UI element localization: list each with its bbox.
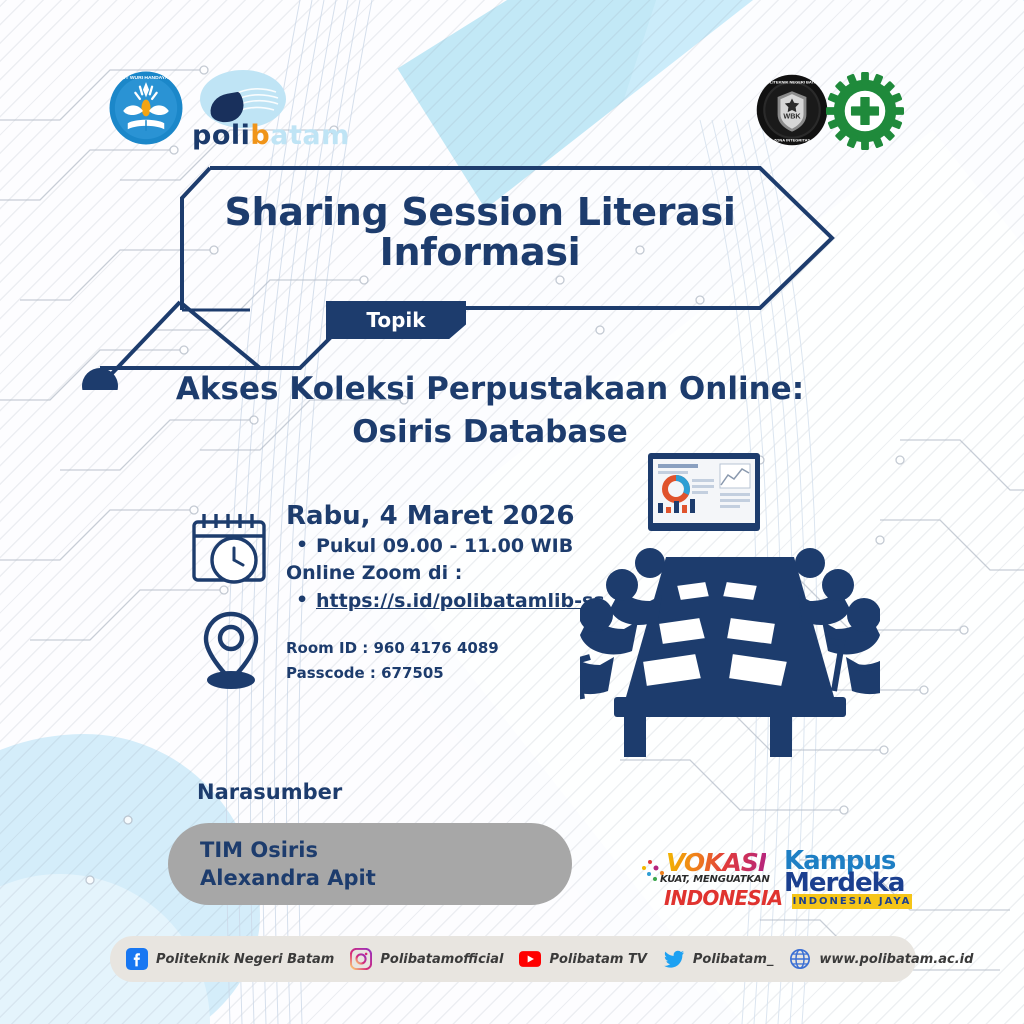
zoom-link[interactable]: https://s.id/polibatamlib-ss: [316, 590, 605, 612]
topik-badge: Topik: [326, 301, 466, 339]
facebook-icon[interactable]: [126, 948, 148, 970]
speaker-section-label: Narasumber: [197, 780, 342, 804]
vokasi-logo: VOKASI KUAT, MENGUATKAN INDONESIA: [648, 848, 776, 910]
green-gear-plus-logo: [826, 72, 904, 150]
footer-item-facebook[interactable]: Politeknik Negeri Batam: [126, 948, 334, 970]
speaker-pill: TIM Osiris Alexandra Apit: [168, 823, 572, 905]
zoom-room-id: Room ID : 960 4176 4089: [286, 637, 616, 660]
event-platform-label: Online Zoom di :: [286, 560, 616, 588]
polibatam-wordmark: polibatam: [192, 120, 350, 151]
title-line-1: Sharing Session Literasi: [180, 192, 780, 232]
polibatam-word-atam: atam: [270, 120, 349, 151]
polibatam-word-b: b: [250, 120, 270, 151]
footer-label-instagram: Polibatamofficial: [380, 952, 503, 967]
event-time: Pukul 09.00 - 11.00 WIB: [286, 533, 616, 561]
svg-text:ZONA INTEGRITAS: ZONA INTEGRITAS: [774, 138, 811, 143]
speaker-name-1: TIM Osiris: [200, 836, 572, 864]
vokasi-word-bottom: INDONESIA: [664, 886, 782, 910]
calendar-clock-icon: [190, 510, 268, 590]
polibatam-word-poli: poli: [192, 120, 250, 151]
footer-item-twitter[interactable]: Polibatam_: [663, 948, 773, 970]
logo-row: TUT WURI HANDAYANI polibatam WBK: [0, 34, 1024, 134]
footer-label-twitter: Polibatam_: [693, 952, 773, 967]
footer-item-website[interactable]: www.polibatam.ac.id: [789, 948, 973, 970]
speaker-name-2: Alexandra Apit: [200, 864, 572, 892]
footer-label-website: www.polibatam.ac.id: [819, 952, 973, 967]
meeting-illustration: [580, 445, 880, 775]
page-title: Sharing Session Literasi Informasi: [180, 192, 780, 273]
zona-integritas-wbk-badge: WBK POLITEKNIK NEGERI BATAM ZONA INTEGRI…: [756, 74, 828, 146]
footer-item-youtube[interactable]: Polibatam TV: [519, 948, 646, 970]
svg-text:TUT WURI HANDAYANI: TUT WURI HANDAYANI: [119, 75, 174, 81]
topic-line-1: Akses Koleksi Perpustakaan Online:: [120, 368, 860, 411]
topic-heading: Akses Koleksi Perpustakaan Online: Osiri…: [120, 368, 860, 454]
social-footer-bar: Politeknik Negeri Batam Polibatamofficia…: [110, 936, 916, 982]
location-pin-icon: [200, 608, 262, 692]
vokasi-word-top: VOKASI: [666, 850, 766, 875]
kampus-merdeka-logo: Kampus Merdeka INDONESIA JAYA: [784, 846, 924, 912]
polibatam-logo: polibatam: [188, 68, 308, 154]
tut-wuri-handayani-logo: TUT WURI HANDAYANI: [108, 70, 184, 146]
event-detail-text: Rabu, 4 Maret 2026 Pukul 09.00 - 11.00 W…: [286, 500, 616, 686]
youtube-icon[interactable]: [519, 948, 541, 970]
event-link-row[interactable]: https://s.id/polibatamlib-ss: [286, 588, 616, 616]
globe-icon[interactable]: [789, 948, 811, 970]
poster-canvas: TUT WURI HANDAYANI polibatam WBK: [0, 0, 1024, 1024]
footer-item-instagram[interactable]: Polibatamofficial: [350, 948, 503, 970]
svg-text:POLITEKNIK NEGERI BATAM: POLITEKNIK NEGERI BATAM: [764, 79, 820, 84]
zoom-passcode: Passcode : 677505: [286, 662, 616, 685]
kampus-word-3: INDONESIA JAYA: [792, 894, 912, 909]
event-date: Rabu, 4 Maret 2026: [286, 500, 616, 533]
presentation-screen: [648, 453, 760, 531]
footer-label-youtube: Polibatam TV: [549, 952, 646, 967]
instagram-icon[interactable]: [350, 948, 372, 970]
title-line-2: Informasi: [180, 232, 780, 272]
vokasi-word-mid: KUAT, MENGUATKAN: [660, 874, 770, 885]
twitter-icon[interactable]: [663, 948, 685, 970]
svg-text:WBK: WBK: [783, 112, 801, 121]
footer-label-facebook: Politeknik Negeri Batam: [156, 952, 334, 967]
